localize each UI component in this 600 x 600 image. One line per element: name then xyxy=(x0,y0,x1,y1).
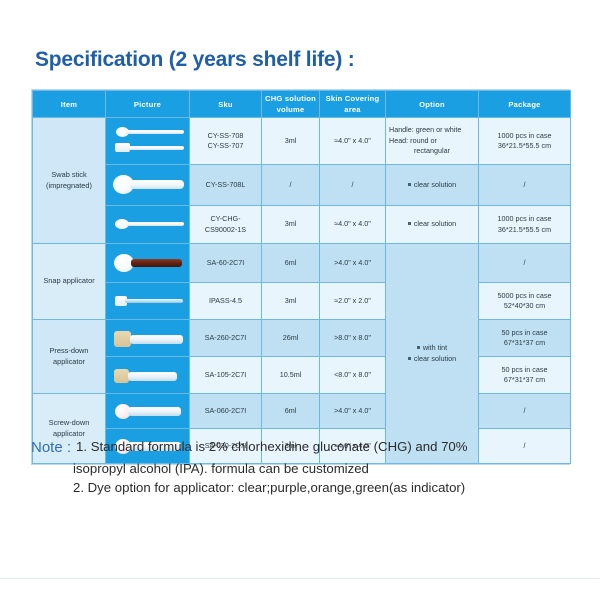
table-row: CY-SS-708L / / clear solution / xyxy=(33,165,571,206)
chg-volume-cell: 6ml xyxy=(262,394,320,429)
press-down-applicator-illustration xyxy=(109,322,186,354)
screw-down-applicator-illustration xyxy=(109,396,186,426)
package-line-2: 36*21.5*55.5 cm xyxy=(482,225,567,235)
skin-area-cell: >4.0" x 4.0" xyxy=(320,394,386,429)
large-swab-stick-illustration xyxy=(109,167,186,203)
option-line-1: with tint xyxy=(423,343,447,352)
slim-swab-stick-illustration xyxy=(109,208,186,241)
package-cell: 50 pcs in case 67*31*37 cm xyxy=(479,357,571,394)
item-group-swab-stick: Swab stick (impregnated) xyxy=(33,118,106,244)
note-line-2: isopropyl alcohol (IPA). formula can be … xyxy=(31,459,576,478)
option-line-2: Head: round or xyxy=(389,136,475,146)
table-row: CY-CHG- CS90002-1S 3ml ≈4.0" x 4.0" clea… xyxy=(33,206,571,244)
package-line-1: 50 pcs in case xyxy=(482,365,567,375)
option-merged-cell: with tint clear solution xyxy=(386,244,479,464)
product-image-cell xyxy=(106,244,190,283)
chg-volume-cell: 3ml xyxy=(262,118,320,165)
package-cell: / xyxy=(479,165,571,206)
bullet-icon xyxy=(408,222,411,225)
sku-line-1: CY-CHG- xyxy=(193,214,258,224)
option-line-3: rectangular xyxy=(389,146,475,156)
table-row: Screw-down applicator SA-060-2C7I 6ml >4… xyxy=(33,394,571,429)
product-image-cell xyxy=(106,206,190,244)
column-header-item: Item xyxy=(33,91,106,118)
skin-area-cell: ≈4.0" x 4.0" xyxy=(320,118,386,165)
table-header-row: Item Picture Sku CHG solution volume Ski… xyxy=(33,91,571,118)
table-row: Snap applicator SA-60-2C7I 6ml >4.0" x 4… xyxy=(33,244,571,283)
sku-cell: IPASS-4.5 xyxy=(190,283,262,320)
option-cell: Handle: green or white Head: round or re… xyxy=(386,118,479,165)
product-image-cell xyxy=(106,320,190,357)
note-label: Note : xyxy=(31,437,71,459)
package-line-2: 36*21.5*55.5 cm xyxy=(482,141,567,151)
sku-cell: SA-060-2C7I xyxy=(190,394,262,429)
specification-page: Specification (2 years shelf life) : Ite… xyxy=(0,0,600,600)
table-body: Swab stick (impregnated) CY-SS-708 CY-SS… xyxy=(33,118,571,464)
item-group-press-down-applicator: Press-down applicator xyxy=(33,320,106,394)
package-line-1: 1000 pcs in case xyxy=(482,214,567,224)
skin-area-cell: <8.0" x 8.0" xyxy=(320,357,386,394)
specification-table: Item Picture Sku CHG solution volume Ski… xyxy=(32,90,571,464)
page-bottom-divider xyxy=(0,578,600,579)
sku-cell: CY-SS-708 CY-SS-707 xyxy=(190,118,262,165)
product-image-cell xyxy=(106,283,190,320)
bullet-icon xyxy=(417,346,420,349)
package-line-2: 67*31*37 cm xyxy=(482,338,567,348)
chg-volume-cell: / xyxy=(262,165,320,206)
table-row: Press-down applicator SA-260-2C7I 26ml >… xyxy=(33,320,571,357)
note-line-3: 2. Dye option for applicator: clear;purp… xyxy=(31,478,576,497)
product-image-cell xyxy=(106,165,190,206)
page-title: Specification (2 years shelf life) : xyxy=(35,48,355,72)
skin-area-cell: / xyxy=(320,165,386,206)
column-header-option: Option xyxy=(386,91,479,118)
skin-area-cell: >8.0" x 8.0" xyxy=(320,320,386,357)
option-line-1: clear solution xyxy=(414,180,456,189)
package-line-2: 52*40*30 cm xyxy=(482,301,567,311)
chg-volume-cell: 26ml xyxy=(262,320,320,357)
ipass-applicator-illustration xyxy=(109,285,186,317)
package-cell: 1000 pcs in case 36*21.5*55.5 cm xyxy=(479,206,571,244)
package-cell: / xyxy=(479,394,571,429)
chg-volume-cell: 3ml xyxy=(262,206,320,244)
package-line-1: 50 pcs in case xyxy=(482,328,567,338)
sku-line-1: CY-SS-708 xyxy=(193,131,258,141)
chg-volume-cell: 6ml xyxy=(262,244,320,283)
table-row: Swab stick (impregnated) CY-SS-708 CY-SS… xyxy=(33,118,571,165)
option-with-tint: with tint xyxy=(389,343,475,353)
sku-cell: SA-60-2C7I xyxy=(190,244,262,283)
skin-area-cell: ≈2.0" x 2.0" xyxy=(320,283,386,320)
item-group-snap-applicator: Snap applicator xyxy=(33,244,106,320)
skin-area-cell: ≈4.0" x 4.0" xyxy=(320,206,386,244)
product-image-cell xyxy=(106,394,190,429)
option-clear-solution: clear solution xyxy=(389,354,475,364)
package-cell: 1000 pcs in case 36*21.5*55.5 cm xyxy=(479,118,571,165)
package-line-2: 67*31*37 cm xyxy=(482,375,567,385)
product-image-cell xyxy=(106,357,190,394)
sku-line-2: CY-SS-707 xyxy=(193,141,258,151)
sku-line-2: CS90002-1S xyxy=(193,225,258,235)
note-line-1: 1. Standard formula is 2% chlorhexidine … xyxy=(76,437,467,456)
column-header-skin-area: Skin Covering area xyxy=(320,91,386,118)
sku-cell: SA-105-2C7I xyxy=(190,357,262,394)
package-line-1: 5000 pcs in case xyxy=(482,291,567,301)
option-line-1: Handle: green or white xyxy=(389,125,475,135)
note-first-row: Note : 1. Standard formula is 2% chlorhe… xyxy=(31,437,576,459)
option-line-1: clear solution xyxy=(414,219,456,228)
table-row: IPASS-4.5 3ml ≈2.0" x 2.0" 5000 pcs in c… xyxy=(33,283,571,320)
press-down-applicator-small-illustration xyxy=(109,359,186,391)
table-header: Item Picture Sku CHG solution volume Ski… xyxy=(33,91,571,118)
specification-table-container: Item Picture Sku CHG solution volume Ski… xyxy=(31,89,570,465)
sku-cell: CY-CHG- CS90002-1S xyxy=(190,206,262,244)
option-line-2: clear solution xyxy=(414,354,456,363)
snap-applicator-illustration xyxy=(109,246,186,280)
sku-cell: CY-SS-708L xyxy=(190,165,262,206)
note-block: Note : 1. Standard formula is 2% chlorhe… xyxy=(31,437,576,497)
column-header-sku: Sku xyxy=(190,91,262,118)
bullet-icon xyxy=(408,183,411,186)
column-header-chg-volume: CHG solution volume xyxy=(262,91,320,118)
option-cell: clear solution xyxy=(386,206,479,244)
sku-cell: SA-260-2C7I xyxy=(190,320,262,357)
package-cell: / xyxy=(479,244,571,283)
package-cell: 50 pcs in case 67*31*37 cm xyxy=(479,320,571,357)
package-cell: 5000 pcs in case 52*40*30 cm xyxy=(479,283,571,320)
table-row: SA-105-2C7I 10.5ml <8.0" x 8.0" 50 pcs i… xyxy=(33,357,571,394)
bullet-icon xyxy=(408,357,411,360)
option-cell: clear solution xyxy=(386,165,479,206)
chg-volume-cell: 10.5ml xyxy=(262,357,320,394)
column-header-package: Package xyxy=(479,91,571,118)
chg-volume-cell: 3ml xyxy=(262,283,320,320)
skin-area-cell: >4.0" x 4.0" xyxy=(320,244,386,283)
package-line-1: 1000 pcs in case xyxy=(482,131,567,141)
column-header-picture: Picture xyxy=(106,91,190,118)
swab-stick-pair-illustration xyxy=(109,120,186,162)
product-image-cell xyxy=(106,118,190,165)
